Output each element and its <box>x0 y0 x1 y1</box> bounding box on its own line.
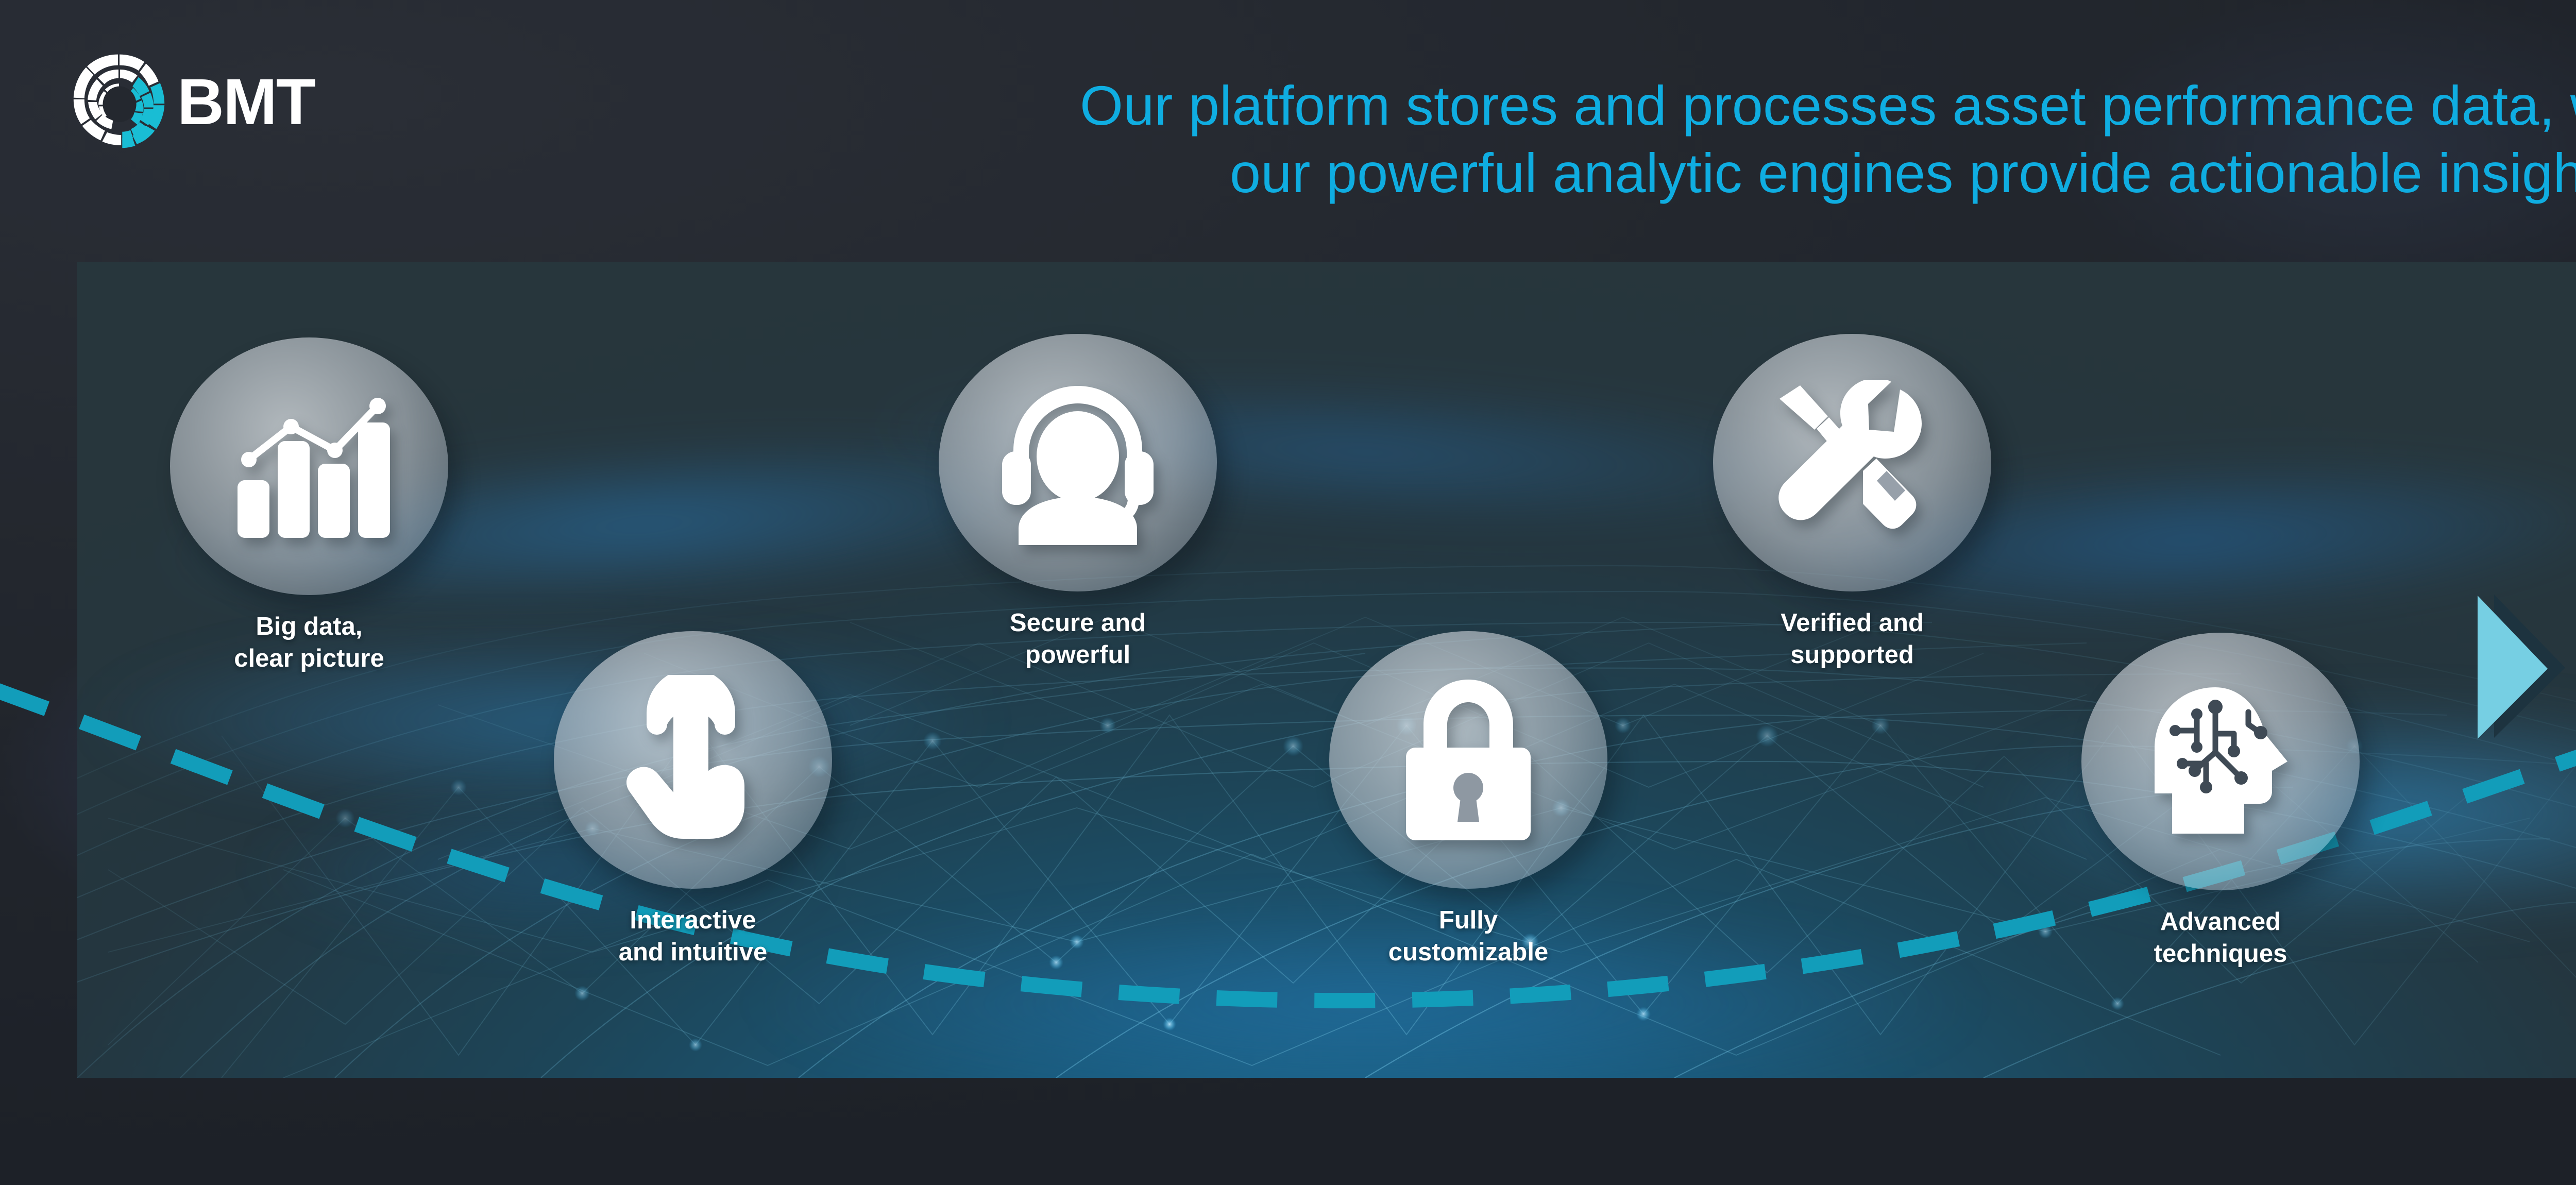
bar-chart-trend-icon <box>224 392 394 541</box>
brand-logo[interactable]: BMT <box>65 47 315 157</box>
feature-icon-circle <box>2081 633 2360 890</box>
headline-line-2: our powerful analytic engines provide ac… <box>1080 140 2576 207</box>
feature-interactive[interactable]: Interactive and intuitive <box>554 631 832 889</box>
right-arrow-marker-icon <box>2470 591 2576 741</box>
ai-head-circuit-icon <box>2143 684 2298 839</box>
feature-big-data[interactable]: Big data, clear picture <box>170 337 448 595</box>
tap-hand-icon <box>616 675 770 845</box>
feature-icon-circle <box>170 337 448 595</box>
feature-caption-line-1: Secure and <box>1010 607 1146 639</box>
feature-caption: Verified and supported <box>1781 607 1924 671</box>
feature-caption-line-2: clear picture <box>234 642 384 674</box>
feature-icon-circle <box>1329 631 1607 889</box>
wrench-screwdriver-icon <box>1767 380 1937 545</box>
feature-caption: Secure and powerful <box>1010 607 1146 671</box>
feature-caption-line-1: Fully <box>1388 904 1548 936</box>
feature-caption-line-2: customizable <box>1388 936 1548 968</box>
feature-advanced-techniques[interactable]: Advanced techniques <box>2081 633 2360 890</box>
feature-icon-circle <box>1713 334 1991 591</box>
headline: Our platform stores and processes asset … <box>1080 72 2576 207</box>
feature-icon-circle <box>554 631 832 889</box>
feature-caption-line-1: Verified and <box>1781 607 1924 639</box>
feature-caption-line-1: Big data, <box>234 611 384 642</box>
feature-verified-supported[interactable]: Verified and supported <box>1713 334 1991 591</box>
feature-caption-line-2: techniques <box>2154 938 2287 970</box>
feature-caption: Big data, clear picture <box>234 611 384 674</box>
feature-caption-line-2: and intuitive <box>619 936 768 968</box>
infographic-slide: BMT Our platform stores and processes as… <box>0 0 2576 1185</box>
bmt-spiral-logo-icon <box>65 47 173 157</box>
headline-line-1: Our platform stores and processes asset … <box>1080 72 2576 140</box>
feature-customizable[interactable]: Fully customizable <box>1329 631 1607 889</box>
feature-caption-line-1: Interactive <box>619 904 768 936</box>
padlock-icon <box>1394 678 1543 842</box>
feature-caption-line-1: Advanced <box>2154 906 2287 938</box>
feature-caption: Advanced techniques <box>2154 906 2287 970</box>
headset-support-icon <box>993 380 1163 545</box>
feature-caption-line-2: supported <box>1781 639 1924 671</box>
feature-secure-powerful[interactable]: Secure and powerful <box>939 334 1217 591</box>
feature-caption: Fully customizable <box>1388 904 1548 968</box>
feature-caption-line-2: powerful <box>1010 639 1146 671</box>
brand-wordmark: BMT <box>177 70 315 134</box>
feature-icon-circle <box>939 334 1217 591</box>
feature-caption: Interactive and intuitive <box>619 904 768 968</box>
